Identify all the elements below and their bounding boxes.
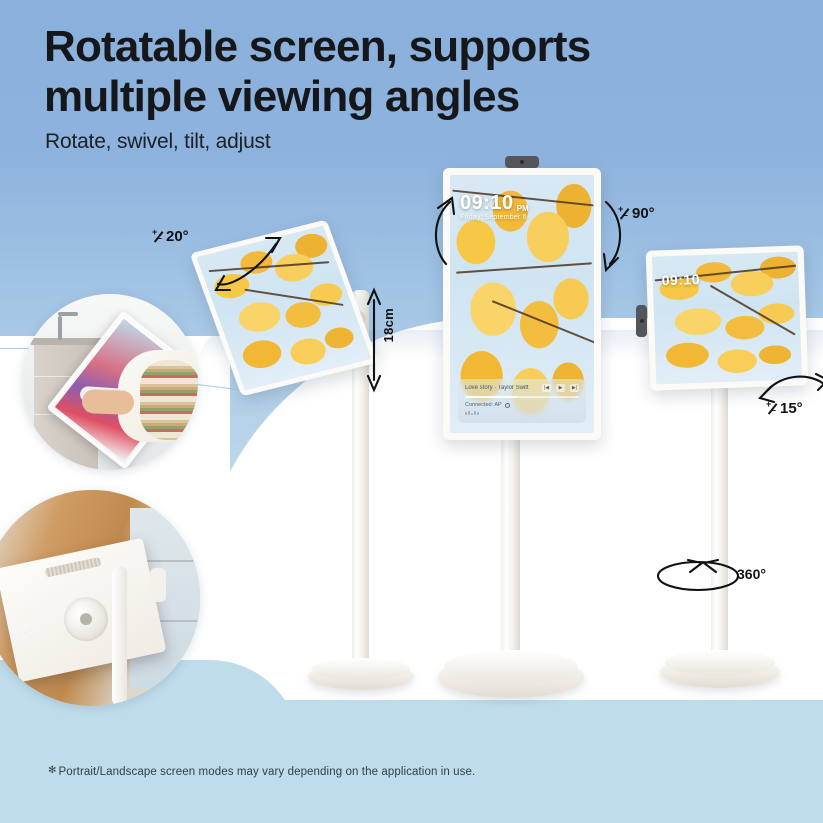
footnote-star-icon: ✻	[48, 765, 56, 776]
arrow-swivel-360	[652, 552, 744, 598]
stand-right-pole	[711, 380, 728, 670]
inset-stand-pole	[112, 566, 127, 706]
arrow-tilt-left	[210, 222, 300, 292]
brand-logo: · · ·	[19, 629, 32, 637]
plus-minus-icon: +–	[152, 228, 165, 243]
lockscreen-clock-right: 09:10	[661, 269, 700, 290]
media-track-title: Love story · Taylor Swift	[465, 385, 529, 391]
play-pause-button[interactable]: ▶	[556, 384, 565, 392]
faucet-icon	[58, 316, 62, 340]
screen-right-display: 09:10	[652, 251, 802, 384]
clock-time-right: 09:10	[661, 271, 700, 288]
camera-bar-right	[636, 305, 647, 337]
stand-left-base-top	[312, 658, 410, 680]
screen-center[interactable]: 09:10 PM Friday, September 6 Love story …	[443, 168, 601, 440]
stand-right-base-top	[665, 650, 775, 676]
prev-track-button[interactable]: |◀	[542, 384, 551, 392]
side-clip	[150, 568, 166, 602]
footnote-text: Portrait/Landscape screen modes may vary…	[58, 766, 475, 778]
arrow-rotate-center-right	[598, 196, 638, 276]
clock-ampm: PM	[517, 204, 529, 213]
arrow-rotate-center-left	[418, 196, 458, 276]
stand-center-base-top	[444, 650, 578, 684]
vent-grille	[45, 557, 102, 577]
annotation-tilt-left: +–20°	[152, 228, 189, 245]
connection-dot-icon	[505, 403, 510, 408]
footnote: ✻Portrait/Landscape screen modes may var…	[48, 765, 475, 778]
media-controls[interactable]: |◀ ▶ ▶|	[542, 384, 579, 392]
connection-label: Connected: AP	[465, 402, 502, 408]
person-hand	[82, 389, 135, 415]
page-title: Rotatable screen, supports multiple view…	[44, 22, 684, 122]
clock-date: Friday, September 6	[460, 214, 529, 221]
media-top-row: Love story · Taylor Swift |◀ ▶ ▶|	[465, 384, 579, 392]
stand-right	[650, 380, 790, 710]
stand-center	[420, 420, 600, 710]
page-subtitle: Rotate, swivel, tilt, adjust	[45, 130, 271, 154]
connection-status: Connected: AP	[465, 402, 579, 408]
progress-bar[interactable]	[465, 396, 579, 398]
camera-bar-center	[505, 156, 539, 168]
swivel-hub	[60, 593, 112, 645]
tilt-left-value: 20°	[166, 228, 189, 245]
height-measure-label: 18cm	[381, 308, 396, 342]
screen-center-display: 09:10 PM Friday, September 6 Love story …	[450, 175, 594, 433]
arrow-tilt-right	[756, 368, 823, 410]
inset-kitchen-photo	[22, 294, 198, 470]
swivel-hub-center	[79, 612, 93, 626]
equalizer-icon	[465, 411, 579, 415]
inset-back-mount-photo: · · ·	[0, 490, 200, 706]
knit-pattern	[140, 360, 198, 440]
media-player-widget[interactable]: Love story · Taylor Swift |◀ ▶ ▶| Connec…	[458, 379, 586, 423]
clock-time: 09:10	[460, 193, 514, 213]
stand-center-pole	[501, 420, 520, 670]
product-feature-graphic: Rotatable screen, supports multiple view…	[0, 0, 823, 823]
lockscreen-clock: 09:10 PM Friday, September 6	[460, 193, 529, 221]
arrow-height-18cm	[366, 288, 382, 392]
next-track-button[interactable]: ▶|	[570, 384, 579, 392]
